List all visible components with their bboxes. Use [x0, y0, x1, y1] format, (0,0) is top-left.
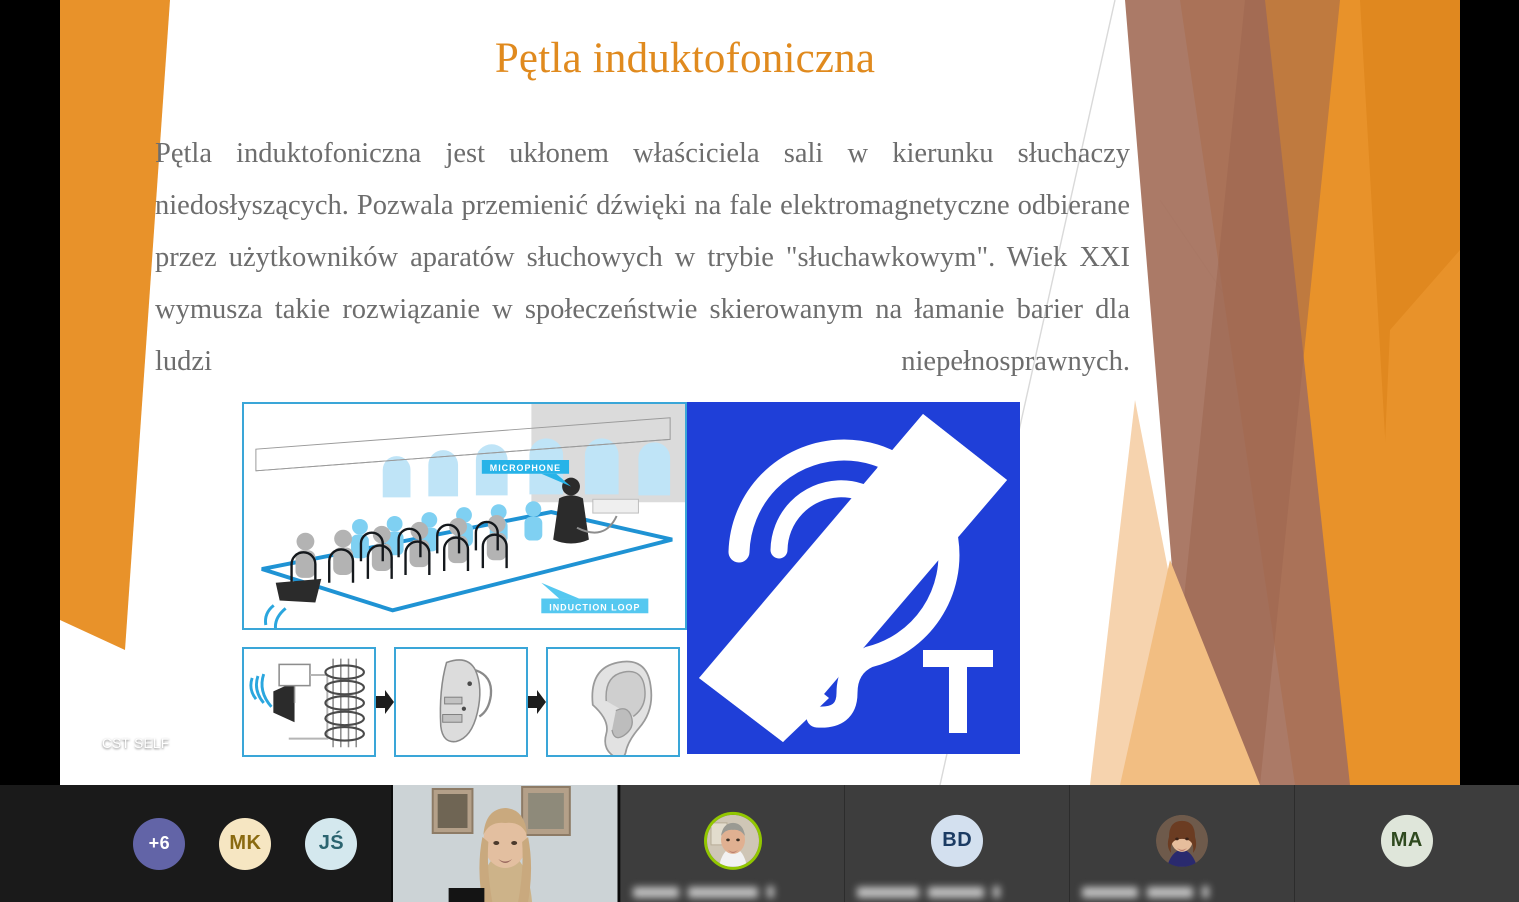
participant-tile-photo-1[interactable] — [620, 785, 845, 902]
avatar-initials-bd: BD — [931, 814, 983, 866]
participant-tile-ma[interactable]: MA — [1294, 785, 1519, 902]
avatar[interactable] — [707, 814, 759, 866]
webcam-video-feed — [391, 785, 619, 902]
participant-name-label — [857, 886, 1000, 898]
participant-name-label — [633, 886, 774, 898]
avatar-js[interactable]: JŚ — [305, 818, 357, 870]
shared-content-stage: Pętla induktofoniczna Pętla induktofonic… — [0, 0, 1519, 785]
avatar[interactable] — [1156, 814, 1208, 866]
hearing-loop-telecoil-sign — [687, 402, 1020, 754]
induction-loop-room-diagram: MICROPHONE INDUCTION LOOP — [242, 402, 687, 630]
overflow-count-avatar[interactable]: +6 — [133, 818, 185, 870]
participant-tile-photo-2[interactable] — [1069, 785, 1294, 902]
chain-panel-ear — [546, 647, 680, 757]
slide-body-text: Pętla induktofoniczna jest ukłonem właśc… — [155, 128, 1130, 440]
chain-panel-coil — [242, 647, 376, 757]
mute-status-icon — [1202, 886, 1209, 898]
avatar-mk[interactable]: MK — [219, 818, 271, 870]
mute-status-icon — [767, 886, 774, 898]
figure-left-column: MICROPHONE INDUCTION LOOP — [242, 402, 687, 762]
slide-figure: MICROPHONE INDUCTION LOOP — [242, 402, 1020, 762]
avatar-photo-male — [707, 814, 759, 866]
participant-name-label — [1082, 886, 1209, 898]
mute-status-icon — [993, 886, 1000, 898]
avatar-initials-ma: MA — [1381, 814, 1433, 866]
avatar[interactable]: BD — [931, 814, 983, 866]
avatar-photo-female — [1156, 814, 1208, 866]
meeting-screen: Pętla induktofoniczna Pętla induktofonic… — [0, 0, 1519, 902]
svg-text:INDUCTION LOOP: INDUCTION LOOP — [549, 602, 640, 612]
video-tile-active-speaker[interactable] — [391, 785, 619, 902]
participant-filmstrip: +6 MK JŚ — [0, 785, 1519, 902]
chain-panel-hearing-aid — [394, 647, 528, 757]
participant-tile-bd[interactable]: BD — [844, 785, 1069, 902]
slide-title: Pętla induktofoniczna — [160, 34, 1210, 83]
figure-right-column — [687, 402, 1020, 762]
avatar[interactable]: MA — [1381, 814, 1433, 866]
svg-text:MICROPHONE: MICROPHONE — [490, 463, 561, 473]
chain-arrow-icon-1 — [376, 689, 394, 715]
participant-overflow-tile[interactable]: +6 MK JŚ — [0, 785, 391, 902]
watermark-label: CST SELF — [102, 736, 169, 751]
presentation-slide[interactable]: Pętla induktofoniczna Pętla induktofonic… — [60, 0, 1460, 785]
signal-chain-row — [242, 642, 687, 762]
chain-arrow-icon-2 — [528, 689, 546, 715]
